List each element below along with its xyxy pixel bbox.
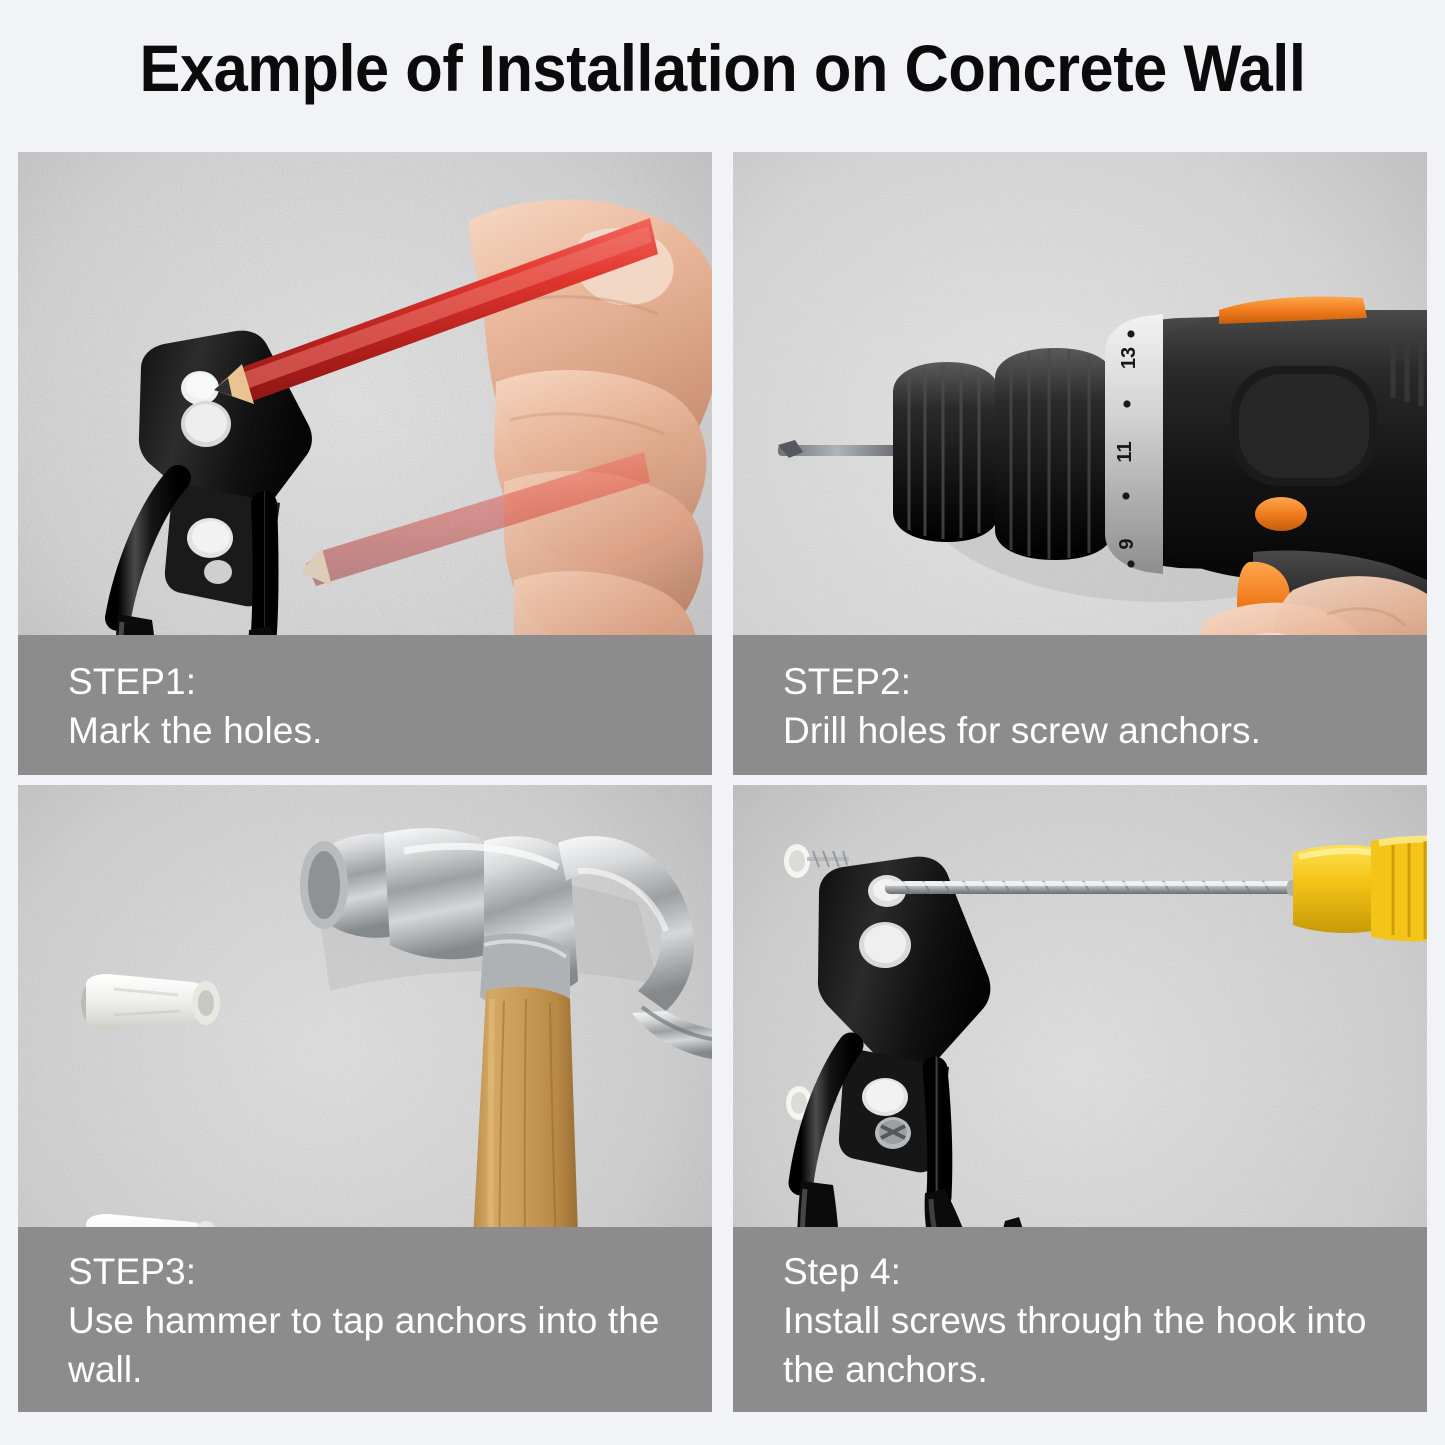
step-caption-3: STEP3: Use hammer to tap anchors into th… xyxy=(18,1227,712,1412)
step-text: Drill holes for screw anchors. xyxy=(783,706,1427,755)
torque-clutch-ring: 13 11 9 xyxy=(1105,314,1163,574)
step-text: Mark the holes. xyxy=(68,706,712,755)
step-caption-4: Step 4: Install screws through the hook … xyxy=(733,1227,1427,1412)
step-panel-3[interactable]: STEP3: Use hammer to tap anchors into th… xyxy=(18,785,712,1412)
hook-arm-right xyxy=(935,1069,940,1197)
yellow-handled-screwdriver xyxy=(1287,837,1427,942)
white-plastic-wall-anchor-upper xyxy=(784,844,810,878)
step-caption-1: STEP1: Mark the holes. xyxy=(18,635,712,775)
hook-arm-right xyxy=(264,504,266,632)
step-panel-1[interactable]: STEP1: Mark the holes. xyxy=(18,152,712,775)
step-label: STEP3: xyxy=(68,1247,712,1296)
step-label: Step 4: xyxy=(783,1247,1427,1296)
steps-grid: STEP1: Mark the holes. xyxy=(18,152,1427,1412)
step-panel-2[interactable]: 13 11 9 xyxy=(733,152,1427,775)
page-title: Example of Installation on Concrete Wall xyxy=(51,26,1395,110)
step-label: STEP1: xyxy=(68,657,712,706)
long-mounting-screw xyxy=(885,881,1297,894)
clutch-number-11: 11 xyxy=(1114,441,1136,462)
installed-screw-head xyxy=(875,1117,911,1149)
step-label: STEP2: xyxy=(783,657,1427,706)
step-text: Use hammer to tap anchors into the wall. xyxy=(68,1296,712,1394)
step-text: Install screws through the hook into the… xyxy=(783,1296,1427,1394)
step-panel-4[interactable]: Step 4: Install screws through the hook … xyxy=(733,785,1427,1412)
drill-direction-button xyxy=(1255,497,1307,531)
step-caption-2: STEP2: Drill holes for screw anchors. xyxy=(733,635,1427,775)
clutch-number-9: 9 xyxy=(1116,538,1138,549)
clutch-number-13: 13 xyxy=(1118,347,1140,369)
